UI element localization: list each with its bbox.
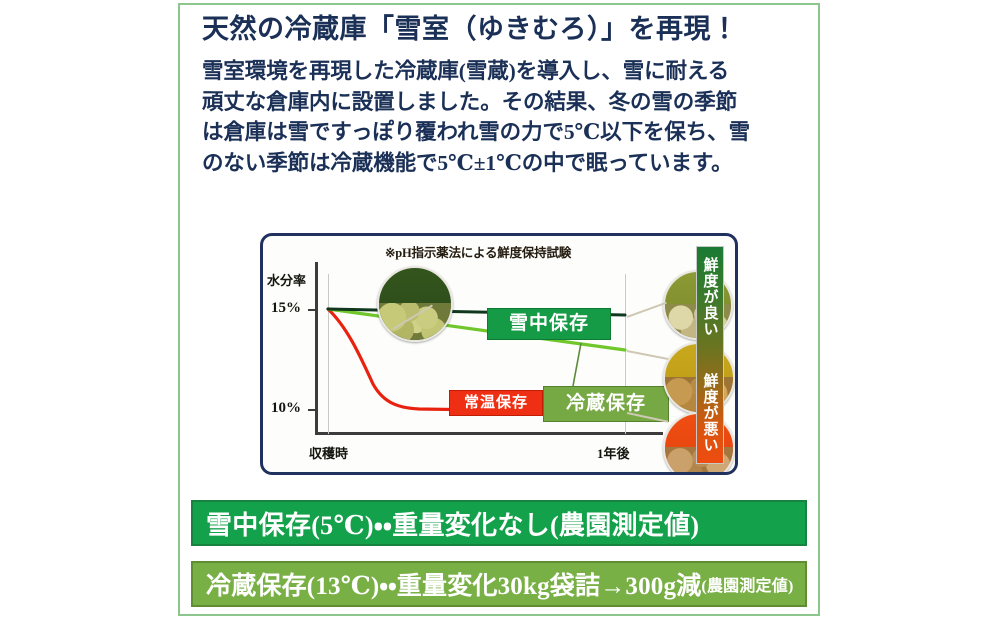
- x-tick-label: 1年後: [597, 443, 630, 462]
- body-paragraph: 雪室環境を再現した冷蔵庫(雪蔵)を導入し、雪に耐える 頑丈な倉庫内に設置しました…: [202, 56, 802, 178]
- infographic-canvas: 天然の冷蔵庫「雪室（ゆきむろ）」を再現！ 雪室環境を再現した冷蔵庫(雪蔵)を導入…: [0, 0, 1000, 621]
- freshness-good-label: 鮮度が良い: [700, 257, 721, 337]
- leader-refrigerated: [573, 343, 581, 386]
- y-axis-label: 水分率: [267, 270, 306, 289]
- freshness-scale-bar: 鮮度が良い 鮮度が悪い: [696, 246, 724, 464]
- content-panel: 天然の冷蔵庫「雪室（ゆきむろ）」を再現！ 雪室環境を再現した冷蔵庫(雪蔵)を導入…: [178, 3, 820, 616]
- x-tick-label: 収穫時: [309, 443, 348, 462]
- freshness-bad-label: 鮮度が悪い: [700, 373, 721, 453]
- chart-plot-area: 15% 10% 水分率 収穫時 1年後: [315, 262, 671, 444]
- banner-snow-storage: 雪中保存(5℃)・・重量変化なし(農園測定値): [191, 500, 807, 546]
- body-line: 雪室環境を再現した冷蔵庫(雪蔵)を導入し、雪に耐える: [202, 56, 802, 87]
- page-title: 天然の冷蔵庫「雪室（ゆきむろ）」を再現！: [202, 14, 818, 45]
- banner-fridge-subtext: (農園測定値): [701, 572, 793, 596]
- body-line: は倉庫は雪ですっぽり覆われ雪の力で5℃以下を保ち、雪: [202, 117, 802, 148]
- body-line: 頑丈な倉庫内に設置しました。その結果、冬の雪の季節: [202, 87, 802, 118]
- harvest-sample-photo: [377, 266, 453, 342]
- banner-fridge-text: 冷蔵保存(13℃)・・重量変化30kg袋詰→300g減: [206, 566, 701, 602]
- chart-title: ※pH指示薬法による鮮度保持試験: [385, 242, 571, 261]
- banner-fridge-storage: 冷蔵保存(13℃)・・重量変化30kg袋詰→300g減 (農園測定値): [191, 561, 807, 607]
- y-tick-label: 10%: [271, 400, 301, 417]
- freshness-chart: ※pH指示薬法による鮮度保持試験 15% 10% 水分率 収穫時 1年後: [260, 233, 738, 475]
- legend-chip-room-temp[interactable]: 常温保存: [449, 390, 543, 416]
- y-tick-label: 15%: [271, 300, 301, 317]
- sample-photo-image: [379, 268, 451, 340]
- banner-snow-text: 雪中保存(5℃)・・重量変化なし(農園測定値): [206, 505, 699, 542]
- legend-chip-snow[interactable]: 雪中保存: [487, 308, 611, 340]
- body-line: のない季節は冷蔵機能で5℃±1℃の中で眠っています。: [202, 148, 802, 179]
